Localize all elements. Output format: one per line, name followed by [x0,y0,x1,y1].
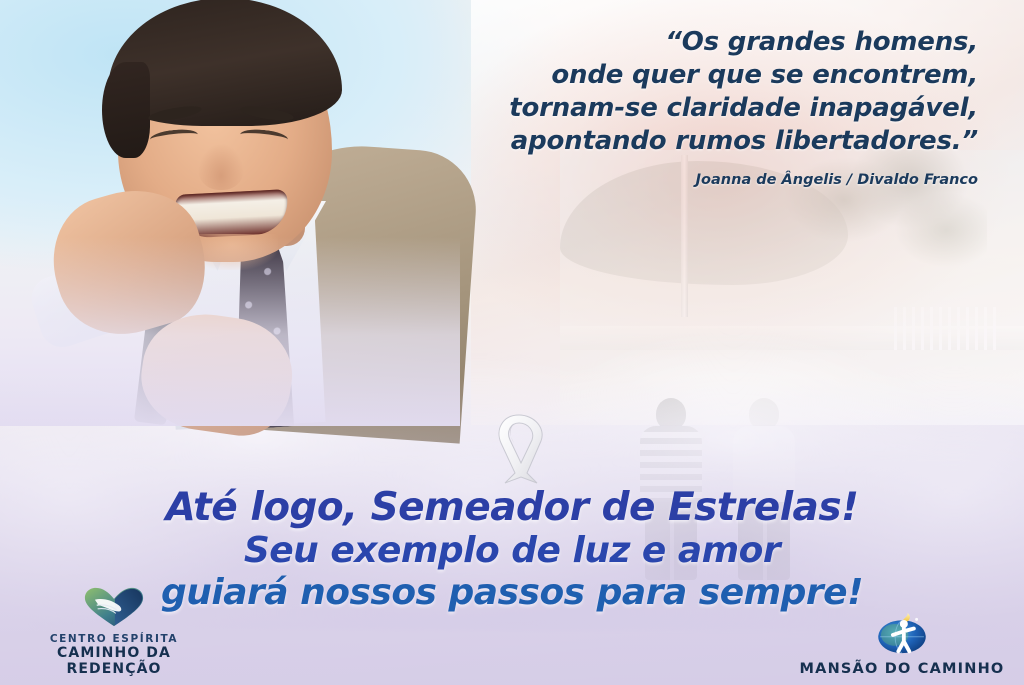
quote-line-3: tornam-se claridade inapagável, [418,92,978,125]
logo-left-line-1: CENTRO ESPÍRITA [14,633,214,645]
logo-right-line-1: MANSÃO DO CAMINHO [792,661,1012,677]
portrait-divaldo-franco [0,0,460,426]
portrait-sideburn [102,62,150,158]
headline-line-2: Seu exemplo de luz e amor [0,530,1024,572]
heart-hands-icon [14,587,214,631]
quote-line-2: onde quer que se encontrem, [418,59,978,92]
globe-figure-flame-icon [792,613,1012,659]
portrait-nose [198,144,244,190]
quote-block: “Os grandes homens, onde quer que se enc… [418,26,978,188]
quote-line-4: apontando rumos libertadores.” [418,125,978,158]
quote-line-1: “Os grandes homens, [418,26,978,59]
quote-attribution: Joanna de Ângelis / Divaldo Franco [418,172,978,188]
tribute-poster: “Os grandes homens, onde quer que se enc… [0,0,1024,685]
logo-centro-espirita: CENTRO ESPÍRITA CAMINHO DA REDENÇÃO [14,587,214,677]
logo-left-line-2: CAMINHO DA REDENÇÃO [14,645,214,677]
mourning-ribbon-icon [487,411,551,485]
logo-mansao-do-caminho: MANSÃO DO CAMINHO [792,613,1012,677]
headline-line-1: Até logo, Semeador de Estrelas! [0,486,1024,530]
